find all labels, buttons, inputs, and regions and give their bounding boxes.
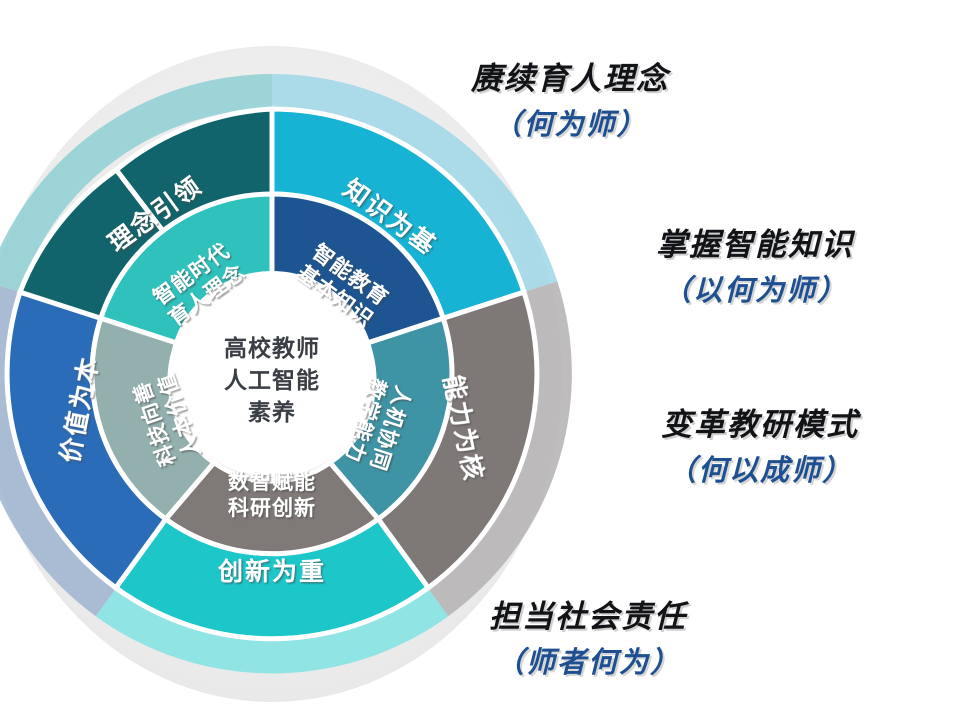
callout-2-sub: （何以成师） [600, 452, 920, 488]
inner-label-3-line1: 数智赋能 [228, 470, 316, 494]
center-line-3: 素养 [248, 399, 296, 426]
callout-0: 赓续育人理念 （何为师） [420, 62, 720, 142]
callout-3-sub: （师者何为） [438, 644, 738, 680]
callout-2: 变革教研模式 （何以成师） [600, 408, 920, 488]
center-line-1: 高校教师 [224, 335, 320, 362]
callout-2-main: 变革教研模式 [600, 408, 920, 444]
inner-label-3-line2: 科研创新 [228, 496, 316, 520]
callout-3-main: 担当社会责任 [438, 600, 738, 636]
callout-1-sub: （以何为师） [595, 272, 915, 308]
callout-3: 担当社会责任 （师者何为） [438, 600, 738, 680]
center-line-2: 人工智能 [224, 367, 320, 394]
outer-label-3: 创新为重 [217, 557, 326, 586]
callout-1: 掌握智能知识 （以何为师） [595, 228, 915, 308]
diagram-canvas: 理念引领 知识为基 能力为核 创新为重 价值为本 智能时代 育人理念 智能教育 … [0, 0, 962, 711]
callout-1-main: 掌握智能知识 [595, 228, 915, 264]
callout-0-main: 赓续育人理念 [420, 62, 720, 98]
callout-0-sub: （何为师） [420, 106, 720, 142]
